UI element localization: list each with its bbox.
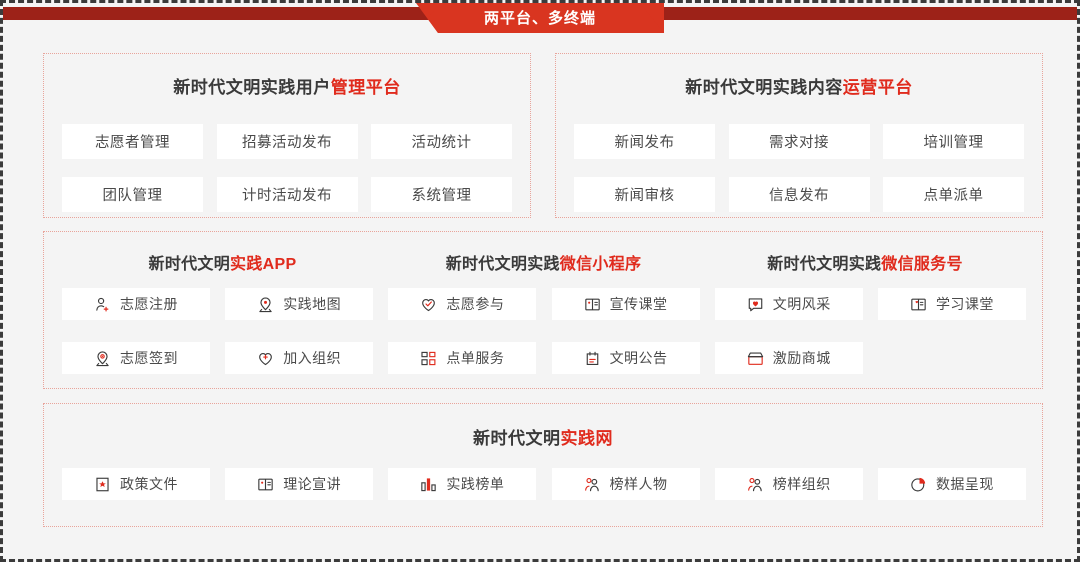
panel-title-red: 运营平台 xyxy=(843,78,913,97)
panel-title-red: 管理平台 xyxy=(331,78,401,97)
button-label: 政策文件 xyxy=(120,474,178,494)
button-label: 文明风采 xyxy=(773,294,831,314)
button-volunteer-management[interactable]: 志愿者管理 xyxy=(62,124,203,159)
heart-plus-icon xyxy=(257,350,274,367)
column-title-miniprogram: 新时代文明实践微信小程序 xyxy=(383,250,704,274)
banner-title: 两平台、多终端 xyxy=(484,7,596,29)
image-heart-icon xyxy=(747,296,764,313)
button-label: 实践地图 xyxy=(283,294,341,314)
panel-title: 新时代文明实践网 xyxy=(44,424,1042,449)
button-volunteer-register[interactable]: 志愿注册 xyxy=(62,288,210,320)
button-recruit-activity-publish[interactable]: 招募活动发布 xyxy=(217,124,358,159)
button-label: 志愿签到 xyxy=(120,348,178,368)
two-person-icon xyxy=(584,476,601,493)
button-volunteer-participate[interactable]: 志愿参与 xyxy=(388,288,536,320)
button-team-management[interactable]: 团队管理 xyxy=(62,177,203,212)
pie-chart-icon xyxy=(910,476,927,493)
button-label: 激励商城 xyxy=(773,348,831,368)
button-label: 点单服务 xyxy=(446,348,504,368)
button-label: 数据呈现 xyxy=(936,474,994,494)
button-reward-mall[interactable]: 激励商城 xyxy=(715,342,863,374)
heart-check-icon xyxy=(420,296,437,313)
button-volunteer-checkin[interactable]: 志愿签到 xyxy=(62,342,210,374)
button-order-dispatch[interactable]: 点单派单 xyxy=(883,177,1024,212)
button-label: 志愿注册 xyxy=(120,294,178,314)
button-study-classroom[interactable]: 学习课堂 xyxy=(878,288,1026,320)
panel-title-dark: 新时代文明实践内容 xyxy=(685,78,843,97)
button-system-management[interactable]: 系统管理 xyxy=(371,177,512,212)
panel-practice-web: 新时代文明实践网 政策文件 理论宣讲 实践榜单 xyxy=(43,403,1043,527)
person-plus-icon xyxy=(94,296,111,313)
button-data-presentation[interactable]: 数据呈现 xyxy=(878,468,1026,500)
column-title-red: 微信服务号 xyxy=(881,256,963,273)
button-label: 理论宣讲 xyxy=(283,474,341,494)
panel-title: 新时代文明实践用户管理平台 xyxy=(44,73,530,98)
column-title-dark: 新时代文明实践 xyxy=(446,256,560,273)
button-timed-activity-publish[interactable]: 计时活动发布 xyxy=(217,177,358,212)
button-policy-documents[interactable]: 政策文件 xyxy=(62,468,210,500)
button-label: 加入组织 xyxy=(283,348,341,368)
button-civilization-style[interactable]: 文明风采 xyxy=(715,288,863,320)
button-label: 榜样组织 xyxy=(773,474,831,494)
button-info-publish[interactable]: 信息发布 xyxy=(729,177,870,212)
button-news-publish[interactable]: 新闻发布 xyxy=(574,124,715,159)
button-civilization-notice[interactable]: 文明公告 xyxy=(552,342,700,374)
open-book-icon xyxy=(910,296,927,313)
button-slot-empty xyxy=(878,342,1026,374)
infographic-page: 两平台、多终端 新时代文明实践用户管理平台 志愿者管理 招募活动发布 活动统计 … xyxy=(0,0,1080,562)
button-label: 宣传课堂 xyxy=(610,294,668,314)
file-star-icon xyxy=(94,476,111,493)
column-title-dark: 新时代文明 xyxy=(149,256,231,273)
panel-user-management-platform: 新时代文明实践用户管理平台 志愿者管理 招募活动发布 活动统计 团队管理 计时活… xyxy=(43,53,531,218)
panel-terminals: 新时代文明实践APP 新时代文明实践微信小程序 新时代文明实践微信服务号 志愿注… xyxy=(43,231,1043,389)
button-training-management[interactable]: 培训管理 xyxy=(883,124,1024,159)
column-title-red: 微信小程序 xyxy=(560,256,642,273)
button-theory-lecture[interactable]: 理论宣讲 xyxy=(225,468,373,500)
column-title-service-account: 新时代文明实践微信服务号 xyxy=(704,250,1026,274)
button-role-model-person[interactable]: 榜样人物 xyxy=(552,468,700,500)
button-promotion-classroom[interactable]: 宣传课堂 xyxy=(552,288,700,320)
column-title-dark: 新时代文明实践 xyxy=(767,256,881,273)
panel-title-red: 实践网 xyxy=(561,429,614,448)
button-activity-statistics[interactable]: 活动统计 xyxy=(371,124,512,159)
bar-chart-icon xyxy=(420,476,437,493)
calendar-icon xyxy=(584,350,601,367)
button-news-review[interactable]: 新闻审核 xyxy=(574,177,715,212)
column-title-red: 实践APP xyxy=(230,256,296,273)
column-title-app: 新时代文明实践APP xyxy=(62,250,383,274)
button-label: 文明公告 xyxy=(610,348,668,368)
button-demand-matching[interactable]: 需求对接 xyxy=(729,124,870,159)
open-book-icon xyxy=(584,296,601,313)
shop-icon xyxy=(747,350,764,367)
panel-title-dark: 新时代文明 xyxy=(473,429,561,448)
pin-check-icon xyxy=(94,350,111,367)
button-practice-ranking[interactable]: 实践榜单 xyxy=(388,468,536,500)
button-join-organization[interactable]: 加入组织 xyxy=(225,342,373,374)
button-role-model-organization[interactable]: 榜样组织 xyxy=(715,468,863,500)
panel-title-dark: 新时代文明实践用户 xyxy=(173,78,331,97)
panel-title: 新时代文明实践内容运营平台 xyxy=(556,73,1042,98)
button-label: 实践榜单 xyxy=(446,474,504,494)
button-label: 志愿参与 xyxy=(446,294,504,314)
banner-ribbon: 两平台、多终端 xyxy=(416,3,664,33)
panel-content-operation-platform: 新时代文明实践内容运营平台 新闻发布 需求对接 培训管理 新闻审核 信息发布 点… xyxy=(555,53,1043,218)
top-banner: 两平台、多终端 xyxy=(3,3,1077,33)
two-person-icon xyxy=(747,476,764,493)
button-label: 学习课堂 xyxy=(936,294,994,314)
button-label: 榜样人物 xyxy=(610,474,668,494)
bars-group-icon xyxy=(420,350,437,367)
button-order-service[interactable]: 点单服务 xyxy=(388,342,536,374)
open-book-icon xyxy=(257,476,274,493)
map-pin-icon xyxy=(257,296,274,313)
button-practice-map[interactable]: 实践地图 xyxy=(225,288,373,320)
